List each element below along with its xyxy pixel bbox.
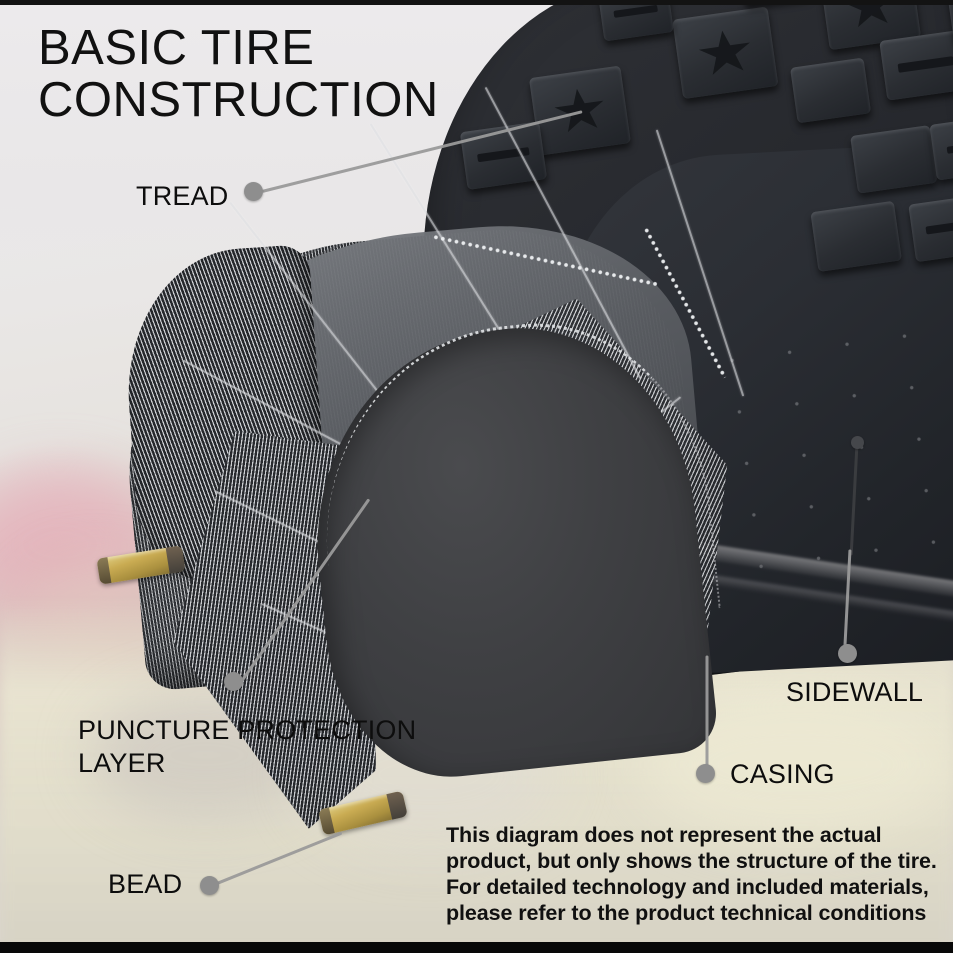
tread-knob: [598, 0, 674, 41]
tire-illustration: [0, 0, 953, 953]
bead-end-cap: [386, 791, 407, 820]
callout-label-tread: TREAD: [136, 180, 229, 213]
leader-dot-tread: [244, 182, 263, 201]
bead-end-cap: [318, 808, 335, 836]
bottom-edge-bar: [0, 942, 953, 953]
callout-label-sidewall: SIDEWALL: [786, 676, 923, 709]
page-title: BASIC TIRE CONSTRUCTION: [38, 22, 439, 126]
tread-knob: [879, 29, 953, 100]
tread-knob: [672, 6, 778, 99]
leader-dot-sidewall-anchor: [851, 436, 864, 449]
leader-dot-puncture: [224, 672, 243, 691]
callout-label-casing: CASING: [730, 758, 835, 791]
callout-label-bead: BEAD: [108, 868, 182, 901]
leader-line-casing: [706, 656, 709, 776]
tire-construction-diagram: BASIC TIRE CONSTRUCTION TREAD PUNCTURE P…: [0, 0, 953, 953]
top-edge-bar: [0, 0, 953, 5]
tread-knob: [850, 125, 937, 194]
leader-dot-casing: [696, 764, 715, 783]
tread-knob: [908, 194, 953, 263]
tread-knob: [810, 201, 902, 272]
disclaimer-text: This diagram does not represent the actu…: [446, 822, 946, 926]
leader-dot-bead: [200, 876, 219, 895]
tread-knob: [790, 58, 871, 124]
bead-end-cap: [96, 557, 111, 584]
callout-label-puncture: PUNCTURE PROTECTION LAYER: [78, 714, 416, 780]
leader-dot-sidewall: [838, 644, 857, 663]
